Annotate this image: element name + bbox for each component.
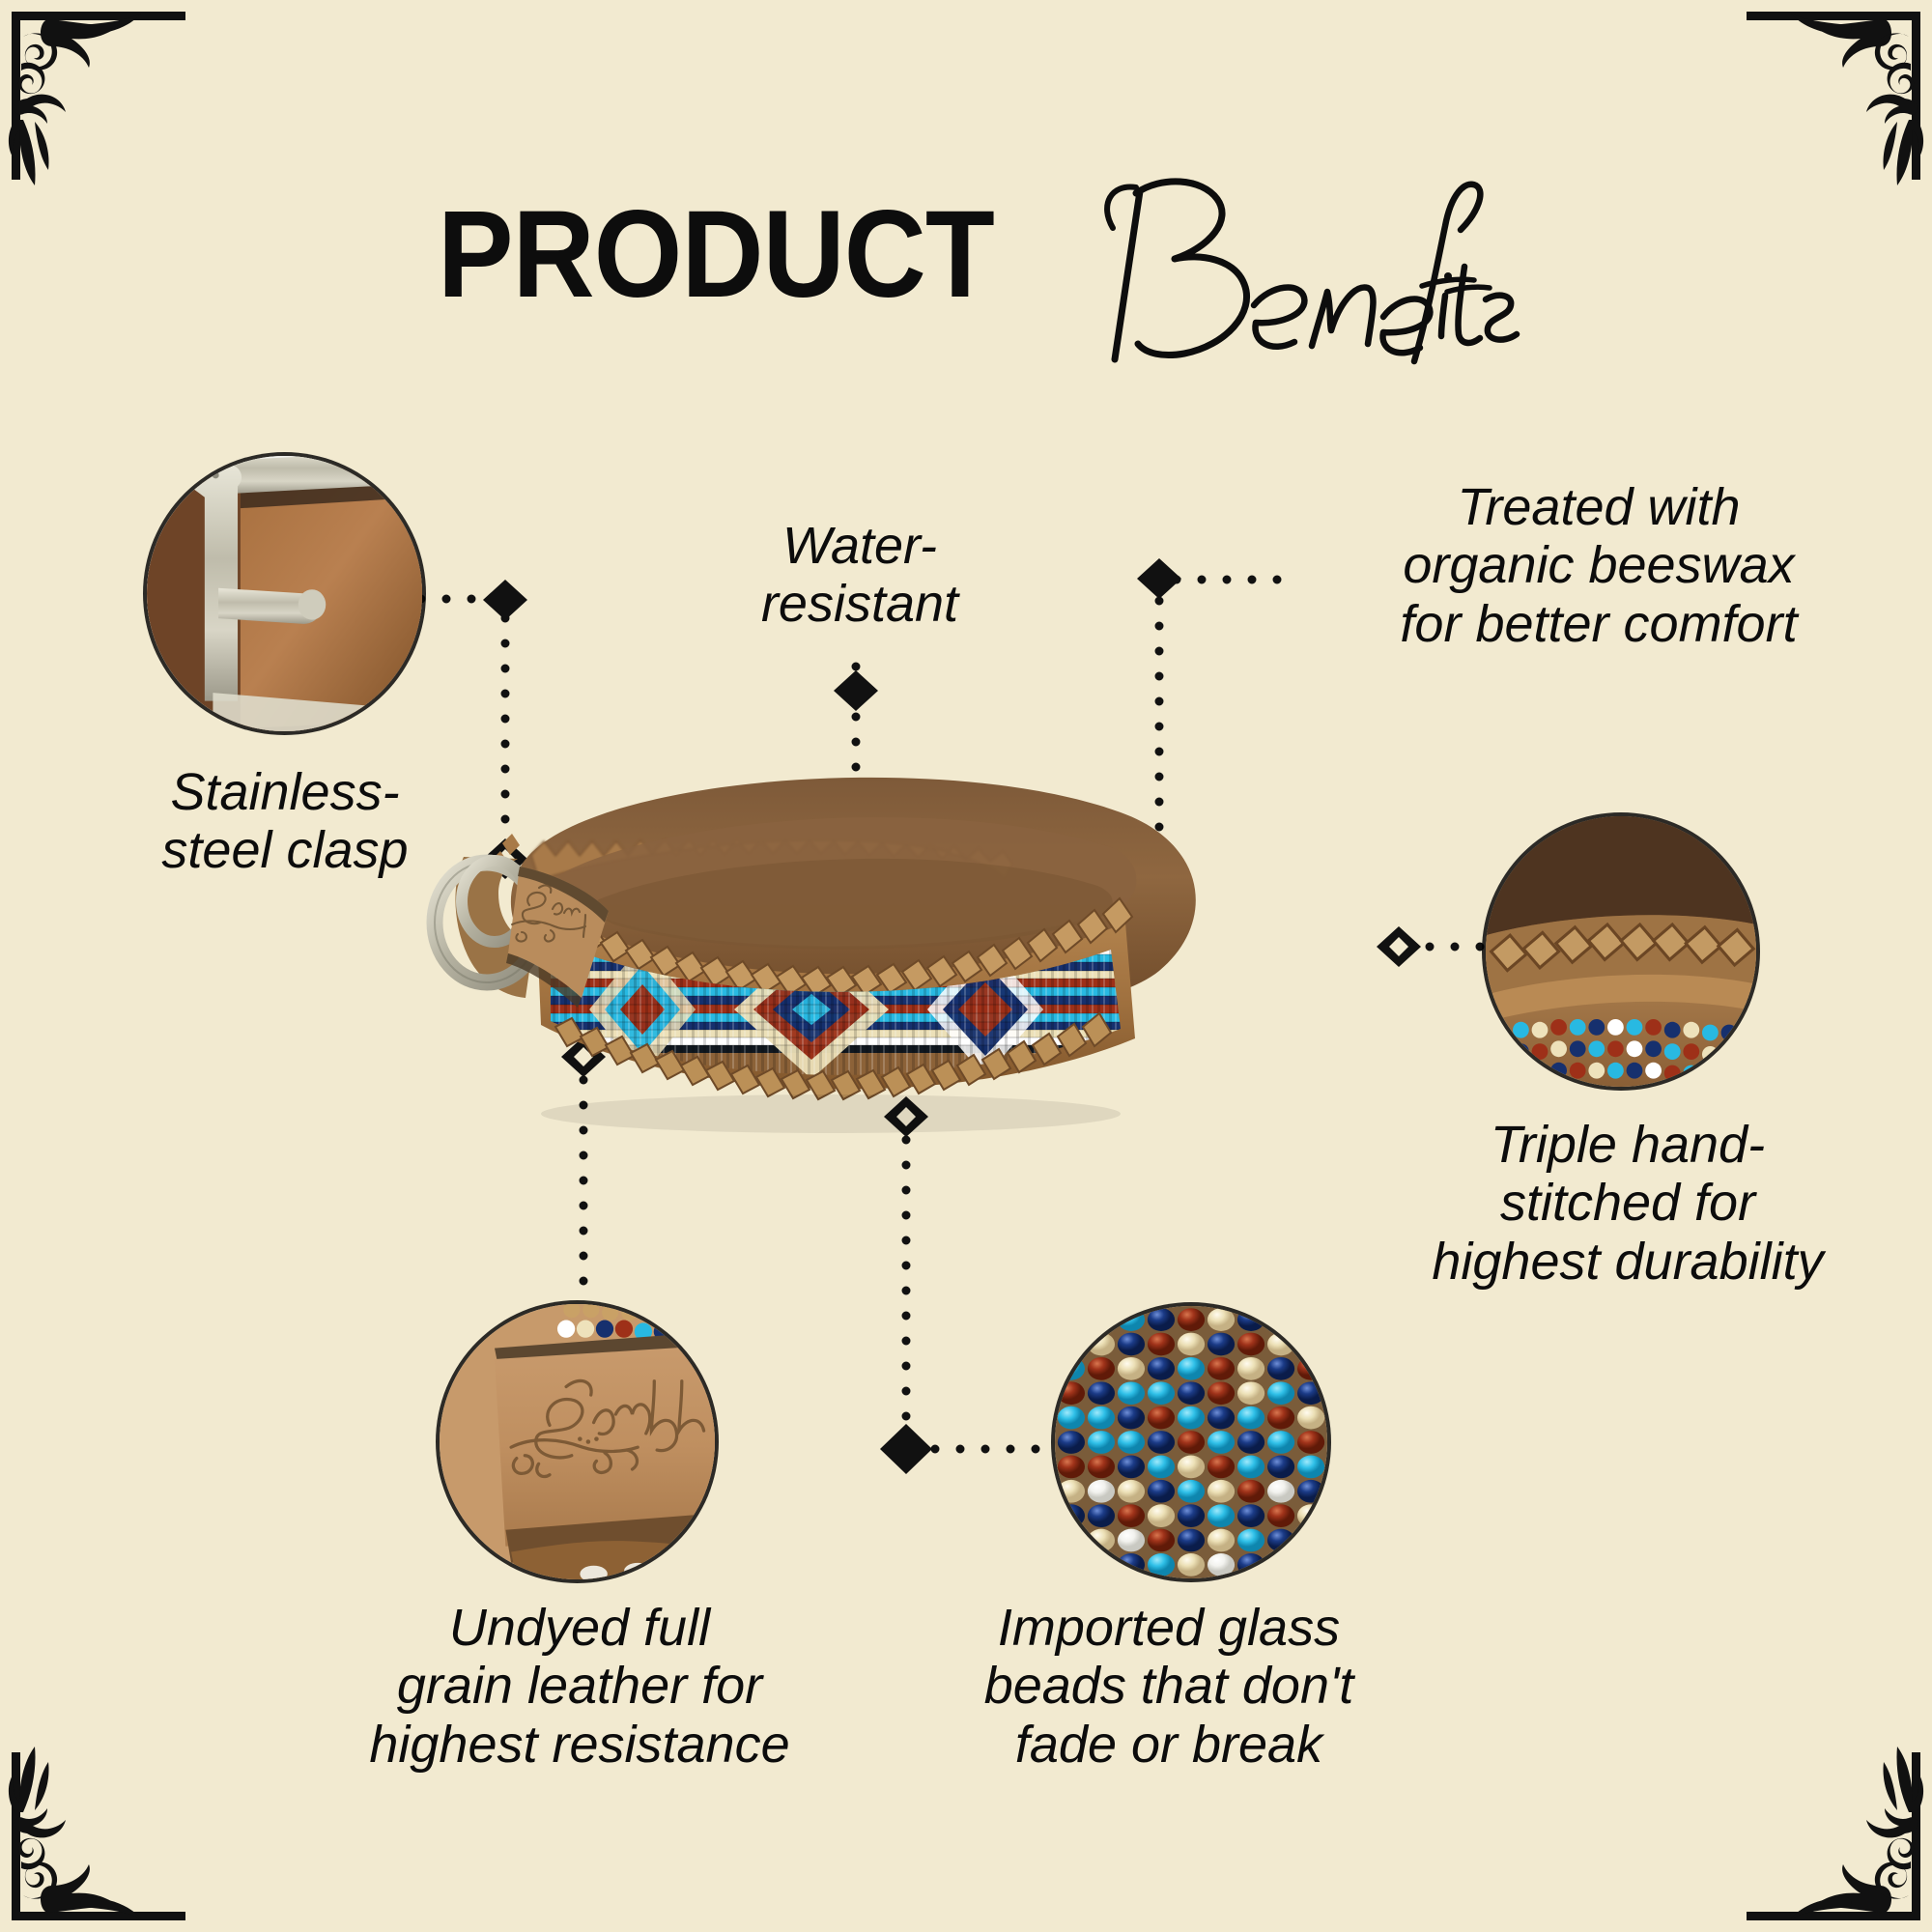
label-organic-beeswax: Treated with organic beeswax for better … <box>1304 478 1893 653</box>
inset-buckle-closeup <box>147 456 422 731</box>
marker-stitch <box>1377 926 1421 967</box>
page-title: PRODUCT <box>0 145 1932 363</box>
inset-bead-macro-closeup <box>1055 1306 1327 1578</box>
page-title-bold: PRODUCT <box>438 184 994 326</box>
label-water-resistant: Water- resistant <box>676 517 1043 634</box>
marker-clasp-elbow <box>483 580 527 620</box>
label-undyed-full-grain-leather: Undyed full grain leather for highest re… <box>285 1599 874 1774</box>
marker-water-top <box>834 670 878 711</box>
page-title-script-benefits <box>1055 170 1519 363</box>
marker-beads-elbow <box>880 1424 932 1474</box>
corner-ornament-bottom-left <box>6 1743 189 1926</box>
marker-beeswax-elbow <box>1137 558 1181 599</box>
label-triple-hand-stitched: Triple hand- stitched for highest durabi… <box>1352 1116 1903 1291</box>
inset-brand-stamp-closeup <box>440 1304 715 1579</box>
inset-stitching-closeup <box>1486 816 1756 1087</box>
product-photo-beaded-collar <box>406 720 1246 1183</box>
label-stainless-steel-clasp: Stainless- steel clasp <box>106 763 464 880</box>
label-imported-glass-beads: Imported glass beads that don't fade or … <box>927 1599 1410 1774</box>
bead-macro-grid <box>1055 1306 1327 1578</box>
corner-ornament-bottom-right <box>1743 1743 1926 1926</box>
